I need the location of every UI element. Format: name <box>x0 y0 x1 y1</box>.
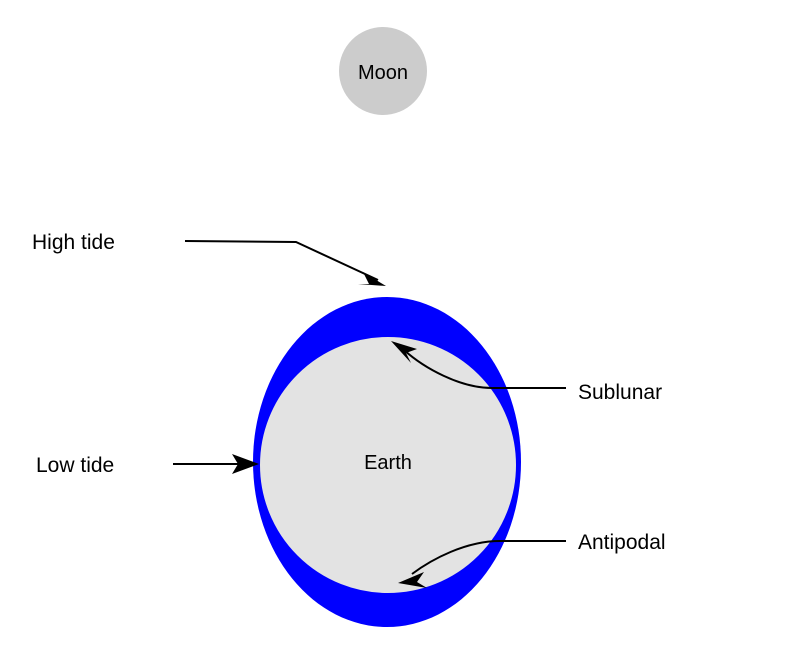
tidal-diagram-root: Moon Earth High tide Low tide Sublunar <box>0 0 800 660</box>
moon-label: Moon <box>358 62 408 84</box>
high-tide-arrowhead <box>358 272 386 286</box>
sublunar-label: Sublunar <box>578 381 662 404</box>
earth-group: Earth <box>259 336 517 594</box>
moon-group: Moon <box>339 27 427 115</box>
annotation-low-tide: Low tide <box>36 454 259 477</box>
high-tide-leader-line <box>185 241 378 280</box>
low-tide-label: Low tide <box>36 454 114 477</box>
high-tide-label: High tide <box>32 231 115 254</box>
diagram-canvas: Moon Earth High tide Low tide Sublunar <box>0 0 800 660</box>
antipodal-label: Antipodal <box>578 531 666 554</box>
annotation-high-tide: High tide <box>32 231 386 286</box>
earth-label: Earth <box>364 452 412 474</box>
